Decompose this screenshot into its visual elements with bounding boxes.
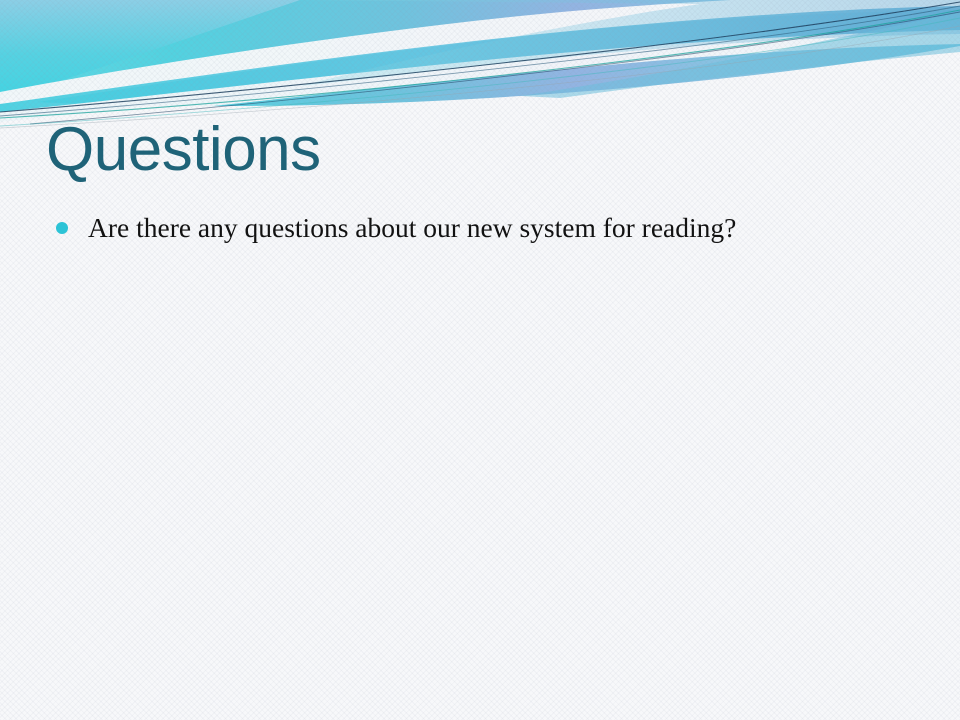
bullet-point-icon <box>56 222 68 234</box>
slide-body-list: Are there any questions about our new sy… <box>52 208 852 248</box>
slide-content: Questions Are there any questions about … <box>0 0 960 720</box>
page-title: Questions <box>46 117 321 183</box>
presentation-slide: Questions Are there any questions about … <box>0 0 960 720</box>
list-item-text: Are there any questions about our new sy… <box>88 212 736 243</box>
list-item: Are there any questions about our new sy… <box>52 208 848 248</box>
